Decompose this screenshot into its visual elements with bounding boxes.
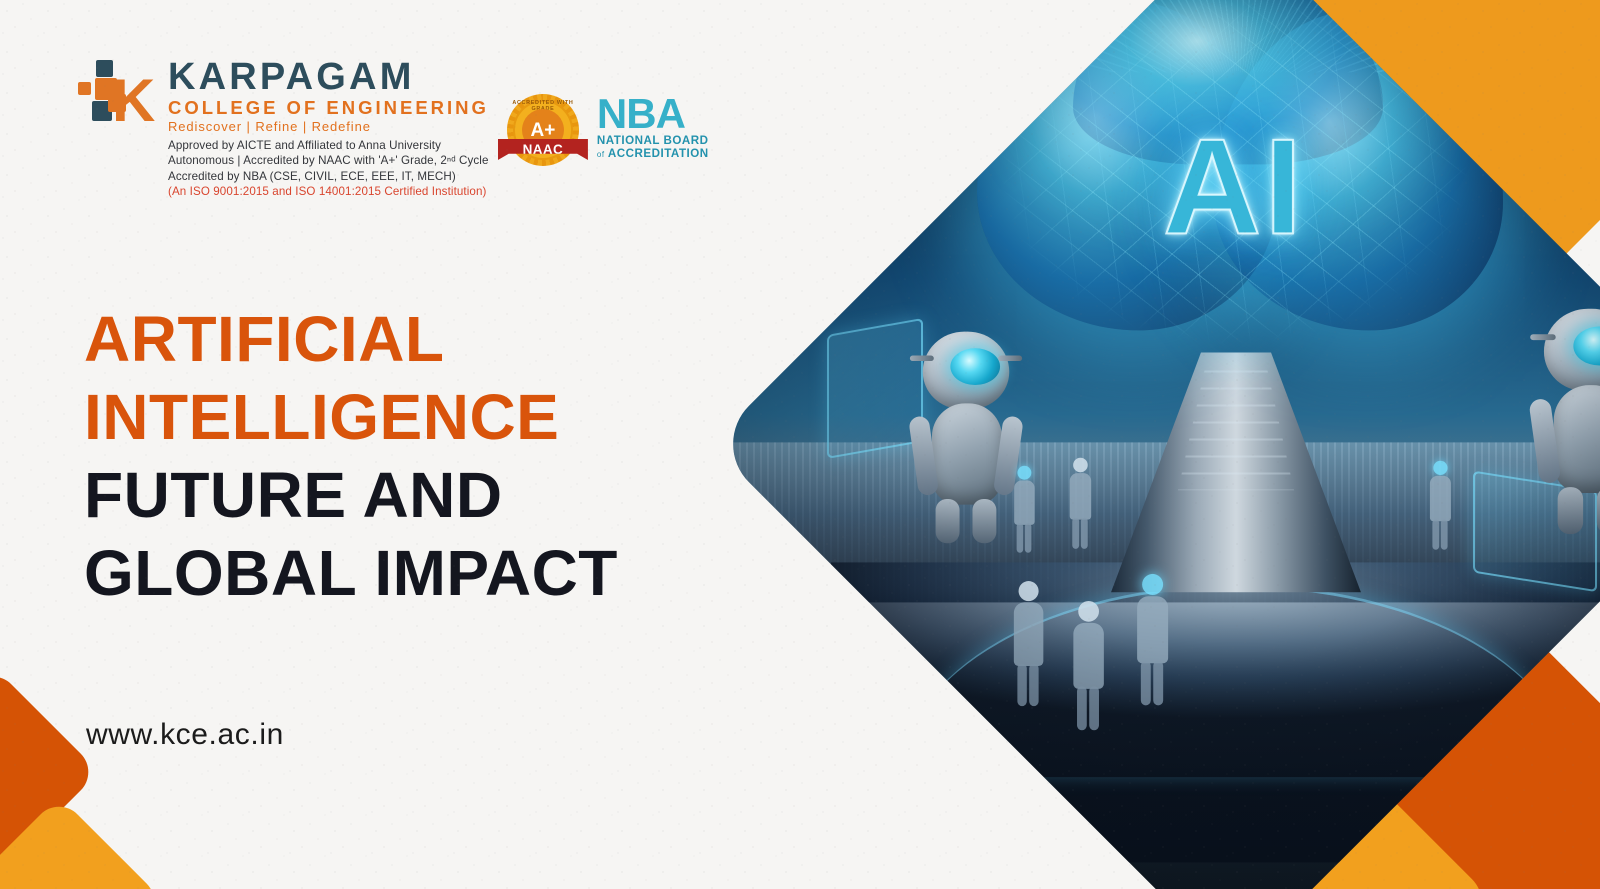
poster-canvas: AI <box>0 0 1600 889</box>
nba-sub-text: ACCREDITATION <box>608 147 709 160</box>
iso-certification-line: (An ISO 9001:2015 and ISO 14001:2015 Cer… <box>168 184 489 199</box>
figure-icon <box>1008 581 1048 704</box>
figure-icon <box>1426 461 1455 548</box>
robot-left-icon <box>912 332 1021 544</box>
karpagam-k-pixel-logo-icon: K <box>78 60 160 132</box>
headline-line-4: GLOBAL IMPACT <box>84 534 618 612</box>
brain-pedestal <box>1111 352 1361 592</box>
naac-seal-icon: ACCREDITED WITH GRADE A+ NAAC <box>507 94 579 166</box>
institution-name: KARPAGAM <box>168 58 489 96</box>
accreditation-line: Accredited by NBA (CSE, CIVIL, ECE, EEE,… <box>168 169 489 184</box>
nba-logo-icon: NBA NATIONAL BOARD of ACCREDITATION <box>597 94 709 161</box>
top-right-amber-shape <box>1209 0 1600 307</box>
headline-line-1: ARTIFICIAL <box>84 300 618 378</box>
figure-icon <box>1010 466 1038 551</box>
accreditation-lines: Approved by AICTE and Affiliated to Anna… <box>168 138 489 200</box>
nba-mark: NBA <box>597 94 709 134</box>
city-skyline <box>711 442 1600 602</box>
website-url[interactable]: www.kce.ac.in <box>86 718 284 752</box>
institution-department: COLLEGE OF ENGINEERING <box>168 97 489 118</box>
figure-icon <box>1067 601 1108 728</box>
figure-icon <box>1065 458 1094 547</box>
brain-pedestal-rings <box>1115 370 1357 490</box>
nba-sub-prefix: of <box>597 150 605 159</box>
naac-grade: A+ <box>531 121 556 140</box>
nba-sub-line-1: NATIONAL BOARD <box>597 134 709 147</box>
holographic-panel-left <box>827 318 923 459</box>
institution-header: K KARPAGAM COLLEGE OF ENGINEERING Redisc… <box>78 58 709 200</box>
institution-tagline: Rediscover | Refine | Redefine <box>168 119 489 135</box>
headline-line-3: FUTURE AND <box>84 456 618 534</box>
nba-sub-line-2: of ACCREDITATION <box>597 147 709 161</box>
page-title: ARTIFICIAL INTELLIGENCE FUTURE AND GLOBA… <box>84 300 618 612</box>
holographic-panel-right <box>1473 471 1597 593</box>
institution-logo: K KARPAGAM COLLEGE OF ENGINEERING Redisc… <box>78 58 489 200</box>
figure-icon <box>1131 574 1173 703</box>
robot-right-icon <box>1532 309 1600 534</box>
accreditation-line: Approved by AICTE and Affiliated to Anna… <box>168 138 489 153</box>
accreditation-line: Autonomous | Accredited by NAAC with 'A+… <box>168 153 489 168</box>
headline-line-2: INTELLIGENCE <box>84 378 618 456</box>
